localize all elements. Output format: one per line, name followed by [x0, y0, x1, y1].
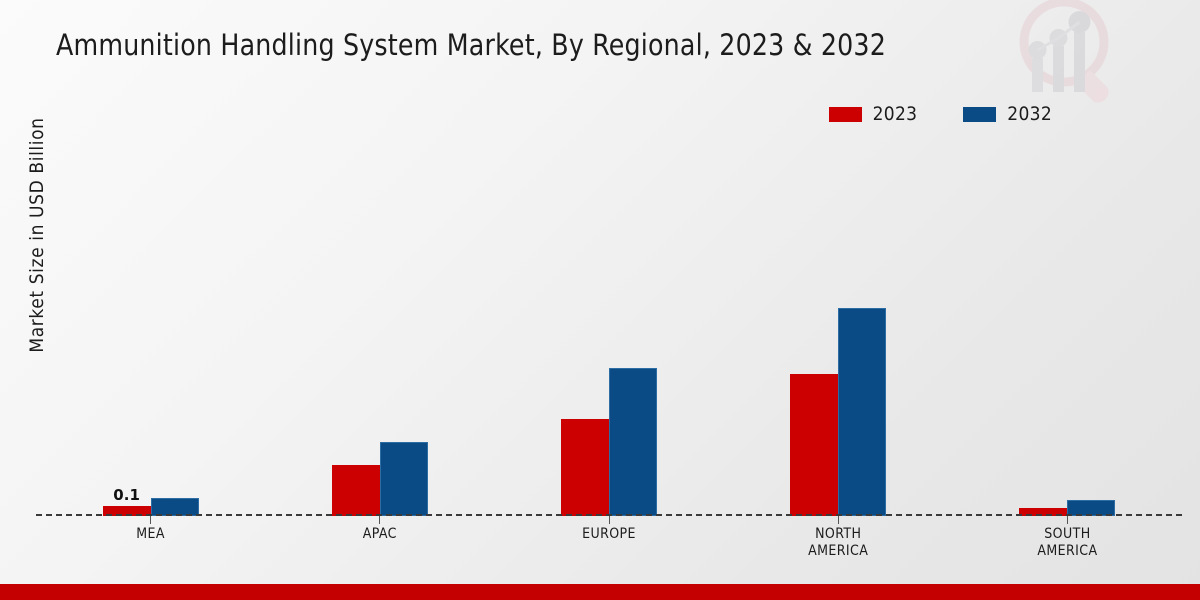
tick-mark: [150, 516, 151, 524]
footer-accent-bar: [0, 584, 1200, 600]
chart-canvas: Ammunition Handling System Market, By Re…: [0, 0, 1200, 600]
bar-2023-europe[interactable]: [561, 419, 609, 516]
chart-legend: 2023 2032: [829, 103, 1052, 125]
tick-cell: [265, 516, 494, 524]
x-axis-ticks: [36, 516, 1182, 524]
category-label: EUROPE: [494, 526, 723, 560]
bar-2023-apac[interactable]: [332, 465, 380, 516]
bar-2032-apac[interactable]: [380, 442, 428, 516]
legend-label-2032: 2032: [1007, 103, 1052, 125]
tick-mark: [609, 516, 610, 524]
tick-mark: [1067, 516, 1068, 524]
tick-cell: [36, 516, 265, 524]
legend-swatch-2032: [963, 107, 996, 122]
category-label: NORTH AMERICA: [724, 526, 953, 560]
category-label: MEA: [36, 526, 265, 560]
bar-value-label: 0.1: [113, 486, 140, 504]
legend-swatch-2023: [829, 107, 862, 122]
bar-group: [724, 130, 953, 516]
x-axis-labels: MEAAPACEUROPENORTH AMERICASOUTH AMERICA: [36, 526, 1182, 560]
chart-title: Ammunition Handling System Market, By Re…: [56, 28, 886, 62]
bar-group: 0.1: [36, 130, 265, 516]
tick-cell: [724, 516, 953, 524]
bar-group: [953, 130, 1182, 516]
tick-mark: [838, 516, 839, 524]
legend-item-2032[interactable]: 2032: [963, 103, 1052, 125]
bar-group: [265, 130, 494, 516]
legend-item-2023[interactable]: 2023: [829, 103, 918, 125]
legend-label-2023: 2023: [873, 103, 918, 125]
bar-groups: 0.1: [36, 130, 1182, 516]
watermark-logo: [1008, 0, 1120, 116]
bar-2032-north-america[interactable]: [838, 308, 886, 516]
category-label: APAC: [265, 526, 494, 560]
category-label: SOUTH AMERICA: [953, 526, 1182, 560]
plot-area: 0.1: [36, 130, 1182, 516]
bar-group: [494, 130, 723, 516]
tick-mark: [379, 516, 380, 524]
bar-2032-europe[interactable]: [609, 368, 657, 516]
bar-2023-north-america[interactable]: [790, 374, 838, 516]
tick-cell: [494, 516, 723, 524]
tick-cell: [953, 516, 1182, 524]
